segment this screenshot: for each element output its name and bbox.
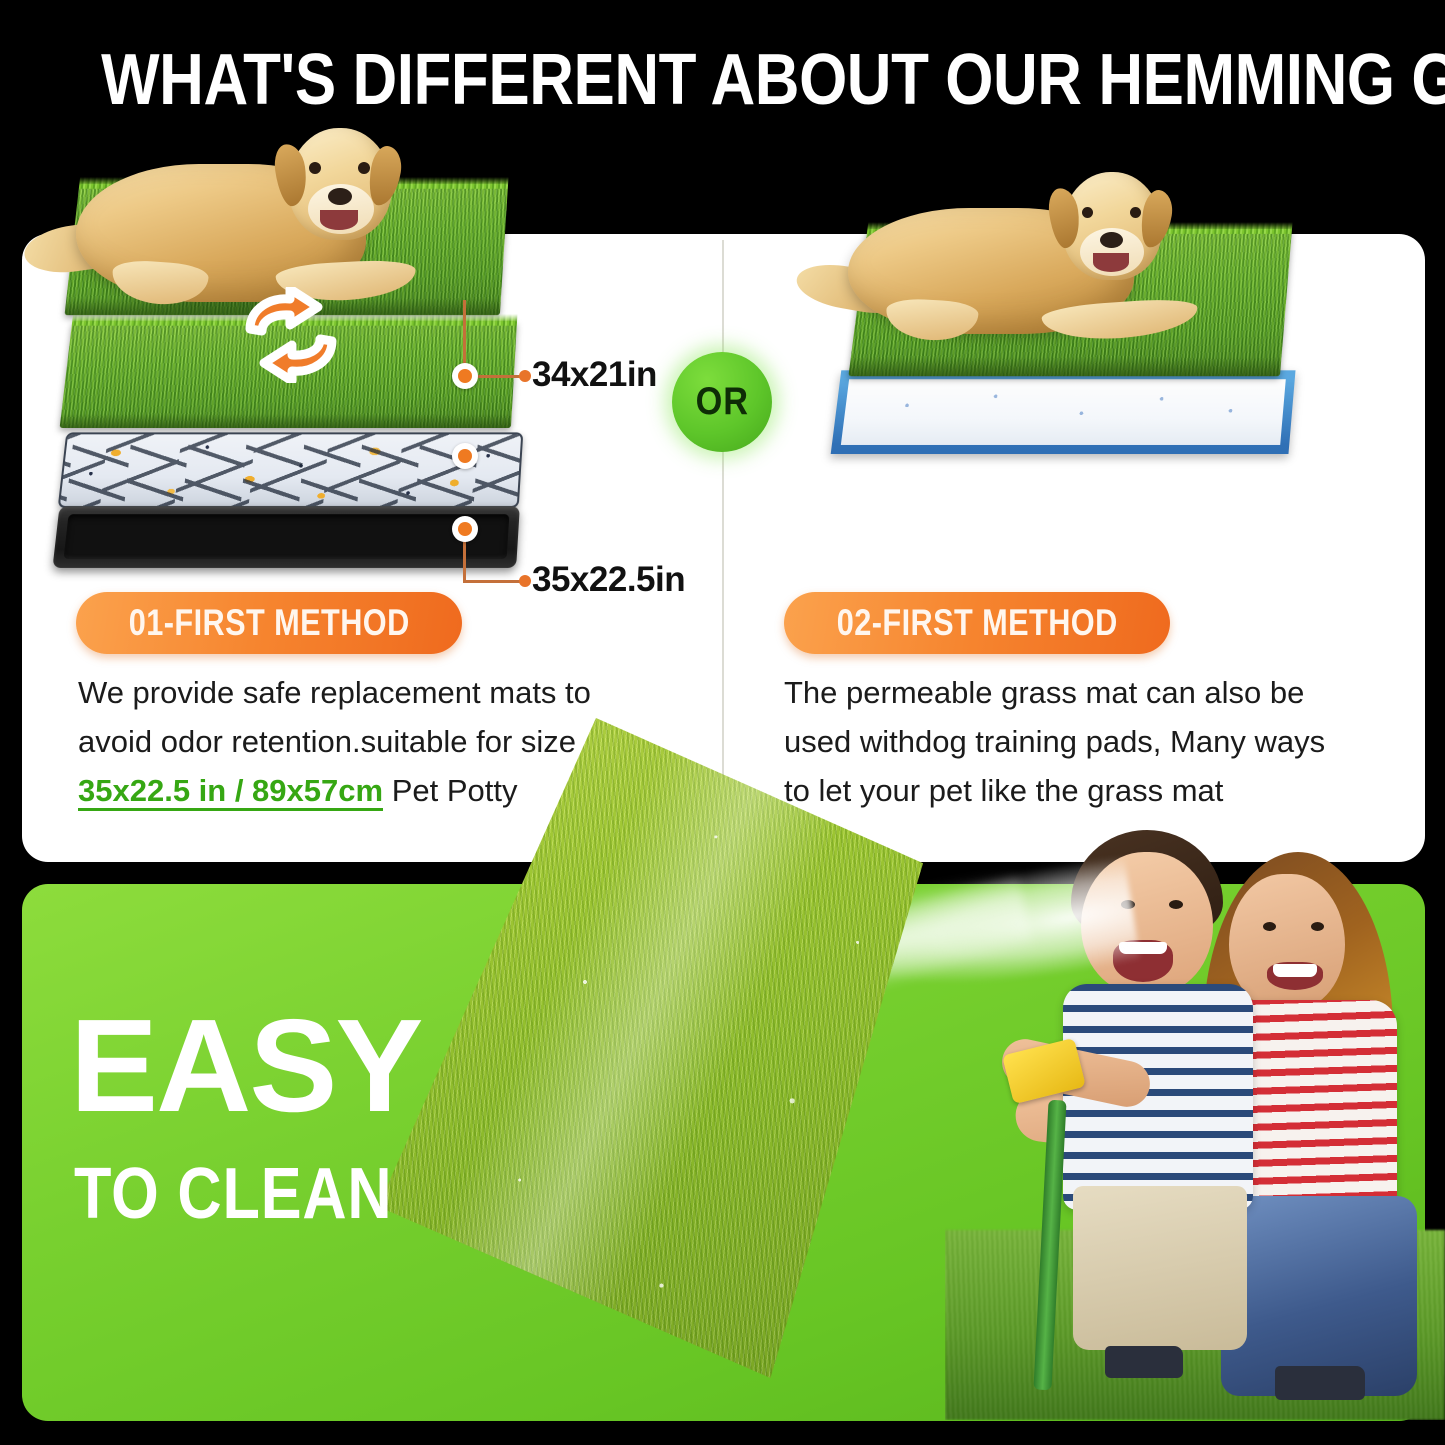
hose-scene [945, 800, 1445, 1420]
boy-sandal [1105, 1346, 1183, 1378]
method-badge-1: 01-FIRST METHOD [76, 592, 462, 654]
dog-left [20, 112, 450, 312]
training-pad [831, 370, 1296, 454]
infographic-root: WHAT'S DIFFERENT ABOUT OUR HEMMING GRASS… [0, 0, 1445, 1445]
method-text-1-after: Pet Potty [383, 773, 517, 808]
method-text-1-highlight: 35x22.5 in / 89x57cm [78, 773, 383, 811]
callout-line-bottom-horizontal [463, 580, 525, 583]
easy-headline: EASY [70, 1000, 421, 1132]
method-text-1: We provide safe replacement mats to avoi… [78, 668, 648, 815]
callout-endpoint-bottom [519, 575, 531, 587]
dog-right [790, 160, 1270, 350]
mom-head [1229, 874, 1345, 1010]
swap-arrows-icon [232, 287, 350, 383]
method-badge-1-label: 01-FIRST METHOD [129, 602, 410, 644]
plastic-tray-layer [52, 506, 519, 568]
method-text-2: The permeable grass mat can also be used… [784, 668, 1354, 815]
method-text-2-before: The permeable grass mat can also be used… [784, 675, 1325, 808]
or-label: OR [695, 380, 748, 424]
easy-subhead: TO CLEAN [74, 1158, 392, 1230]
callout-endpoint-top [519, 370, 531, 382]
pee-pad-layer [58, 432, 524, 508]
callout-dot-top [452, 363, 478, 389]
mom-sandal [1275, 1366, 1365, 1400]
method-text-1-before: We provide safe replacement mats to avoi… [78, 675, 591, 759]
measure-label-top: 34x21in [532, 355, 657, 395]
page-title: WHAT'S DIFFERENT ABOUT OUR HEMMING GRASS… [101, 44, 1344, 116]
callout-dot-bottom [452, 516, 478, 542]
boy-shorts [1073, 1186, 1247, 1350]
or-badge: OR [672, 352, 772, 452]
method-badge-2: 02-FIRST METHOD [784, 592, 1170, 654]
measure-label-bottom: 35x22.5in [532, 560, 685, 600]
callout-dot-mid [452, 443, 478, 469]
method-badge-2-label: 02-FIRST METHOD [837, 602, 1118, 644]
column-divider [722, 240, 724, 856]
